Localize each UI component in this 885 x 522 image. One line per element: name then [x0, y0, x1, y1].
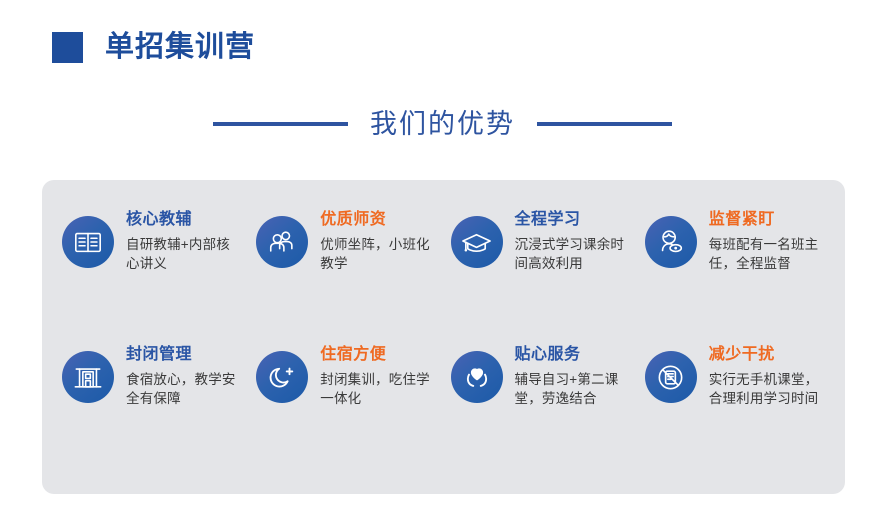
feature-title: 减少干扰	[709, 345, 821, 365]
feature-item-4[interactable]: 监督紧盯 每班配有一名班主任，全程监督	[645, 210, 839, 345]
feature-item-7[interactable]: 贴心服务 辅导自习+第二课堂，劳逸结合	[451, 345, 645, 480]
open-book-icon	[62, 216, 114, 268]
feature-desc: 沉浸式学习课余时间高效利用	[515, 235, 627, 273]
feature-item-3[interactable]: 全程学习 沉浸式学习课余时间高效利用	[451, 210, 645, 345]
feature-text: 优质师资 优师坐阵，小班化教学	[320, 210, 432, 273]
feature-item-1[interactable]: 核心教辅 自研教辅+内部核心讲义	[62, 210, 256, 345]
feature-desc: 封闭集训，吃住学一体化	[320, 370, 432, 408]
rule-right	[537, 122, 672, 126]
section-title: 我们的优势	[370, 108, 515, 140]
feature-desc: 优师坐阵，小班化教学	[320, 235, 432, 273]
feature-title: 监督紧盯	[709, 210, 821, 230]
feature-item-6[interactable]: 住宿方便 封闭集训，吃住学一体化	[256, 345, 450, 480]
building-icon	[62, 351, 114, 403]
feature-desc: 食宿放心，教学安全有保障	[126, 370, 238, 408]
feature-title: 核心教辅	[126, 210, 238, 230]
feature-text: 住宿方便 封闭集训，吃住学一体化	[320, 345, 432, 408]
feature-desc: 实行无手机课堂，合理利用学习时间	[709, 370, 821, 408]
feature-desc: 辅导自习+第二课堂，劳逸结合	[515, 370, 627, 408]
advantages-grid: 核心教辅 自研教辅+内部核心讲义 优质师资 优师坐阵，小班化教学	[62, 210, 839, 480]
feature-title: 全程学习	[515, 210, 627, 230]
person-magnifier-icon	[645, 216, 697, 268]
feature-item-5[interactable]: 封闭管理 食宿放心，教学安全有保障	[62, 345, 256, 480]
feature-item-8[interactable]: 减少干扰 实行无手机课堂，合理利用学习时间	[645, 345, 839, 480]
feature-title: 贴心服务	[515, 345, 627, 365]
moon-plus-icon	[256, 351, 308, 403]
header-marker-square	[52, 32, 83, 63]
section-heading: 我们的优势	[0, 108, 885, 140]
promo-page: 单招集训营 我们的优势	[0, 0, 885, 522]
feature-text: 封闭管理 食宿放心，教学安全有保障	[126, 345, 238, 408]
page-title: 单招集训营	[105, 33, 255, 62]
no-phone-icon	[645, 351, 697, 403]
feature-title: 优质师资	[320, 210, 432, 230]
feature-title: 封闭管理	[126, 345, 238, 365]
advantages-panel: 核心教辅 自研教辅+内部核心讲义 优质师资 优师坐阵，小班化教学	[42, 180, 845, 494]
feature-text: 贴心服务 辅导自习+第二课堂，劳逸结合	[515, 345, 627, 408]
feature-text: 全程学习 沉浸式学习课余时间高效利用	[515, 210, 627, 273]
feature-desc: 自研教辅+内部核心讲义	[126, 235, 238, 273]
feature-desc: 每班配有一名班主任，全程监督	[709, 235, 821, 273]
graduation-cap-icon	[451, 216, 503, 268]
feature-text: 减少干扰 实行无手机课堂，合理利用学习时间	[709, 345, 821, 408]
people-group-icon	[256, 216, 308, 268]
feature-item-2[interactable]: 优质师资 优师坐阵，小班化教学	[256, 210, 450, 345]
feature-text: 核心教辅 自研教辅+内部核心讲义	[126, 210, 238, 273]
feature-text: 监督紧盯 每班配有一名班主任，全程监督	[709, 210, 821, 273]
page-header: 单招集训营	[52, 32, 255, 63]
heart-in-hands-icon	[451, 351, 503, 403]
feature-title: 住宿方便	[320, 345, 432, 365]
rule-left	[213, 122, 348, 126]
